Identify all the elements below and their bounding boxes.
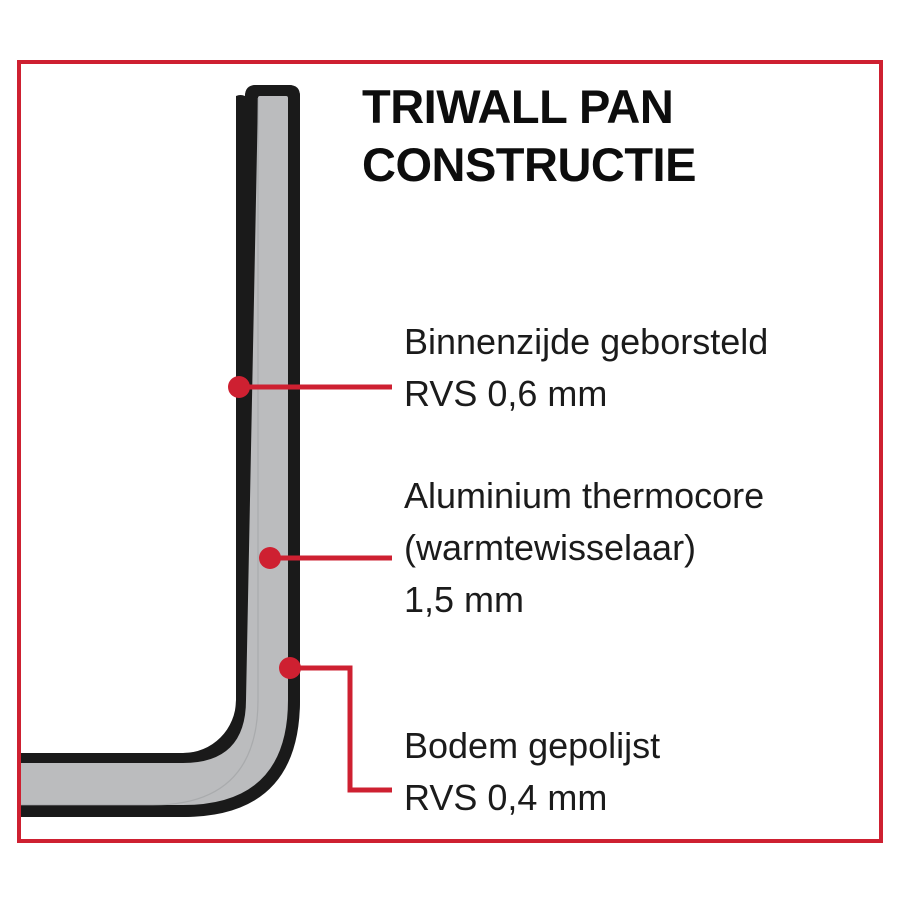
leader-3-elbow-line (290, 668, 392, 790)
page-title: TRIWALL PAN CONSTRUCTIE (362, 78, 862, 194)
callout-base-layer: Bodem gepolijst RVS 0,4 mm (404, 720, 660, 824)
leader-3-dot (279, 657, 301, 679)
inner-steel-boundary-line (21, 98, 258, 805)
callout-core-layer: Aluminium thermocore (warmtewisselaar) 1… (404, 470, 764, 626)
callout-3-line-2: RVS 0,4 mm (404, 772, 660, 824)
callout-2-line-2: (warmtewisselaar) (404, 522, 764, 574)
title-line-1: TRIWALL PAN (362, 78, 862, 136)
diagram-canvas: TRIWALL PAN CONSTRUCTIE Binnenzijde gebo… (0, 0, 900, 900)
callout-2-line-1: Aluminium thermocore (404, 470, 764, 522)
leader-2-dot (259, 547, 281, 569)
leader-1-dot (228, 376, 250, 398)
pan-wall-group (21, 85, 300, 817)
callout-1-line-2: RVS 0,6 mm (404, 368, 768, 420)
callout-inner-layer: Binnenzijde geborsteld RVS 0,6 mm (404, 316, 768, 420)
callout-2-line-3: 1,5 mm (404, 574, 764, 626)
title-line-2: CONSTRUCTIE (362, 136, 862, 194)
callout-1-line-1: Binnenzijde geborsteld (404, 316, 768, 368)
callout-3-line-1: Bodem gepolijst (404, 720, 660, 772)
